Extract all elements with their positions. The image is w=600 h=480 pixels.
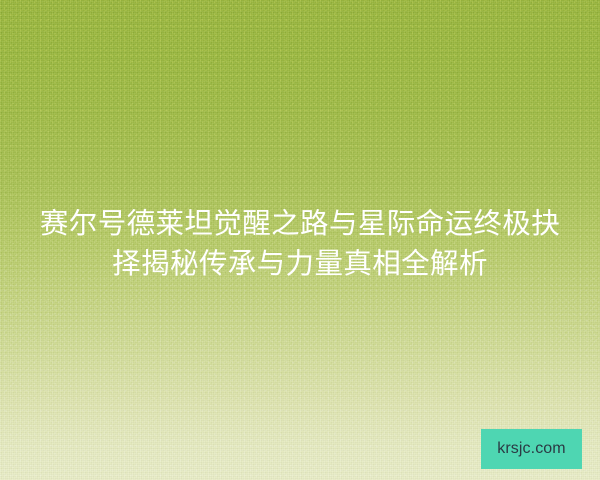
page-title: 赛尔号德莱坦觉醒之路与星际命运终极抉 择揭秘传承与力量真相全解析 xyxy=(0,204,600,284)
title-line-2: 择揭秘传承与力量真相全解析 xyxy=(22,244,578,284)
promo-banner: 赛尔号德莱坦觉醒之路与星际命运终极抉 择揭秘传承与力量真相全解析 krsjc.c… xyxy=(0,0,600,480)
site-watermark-badge: krsjc.com xyxy=(481,429,582,469)
watermark-label: krsjc.com xyxy=(497,441,565,457)
title-line-1: 赛尔号德莱坦觉醒之路与星际命运终极抉 xyxy=(22,204,578,244)
